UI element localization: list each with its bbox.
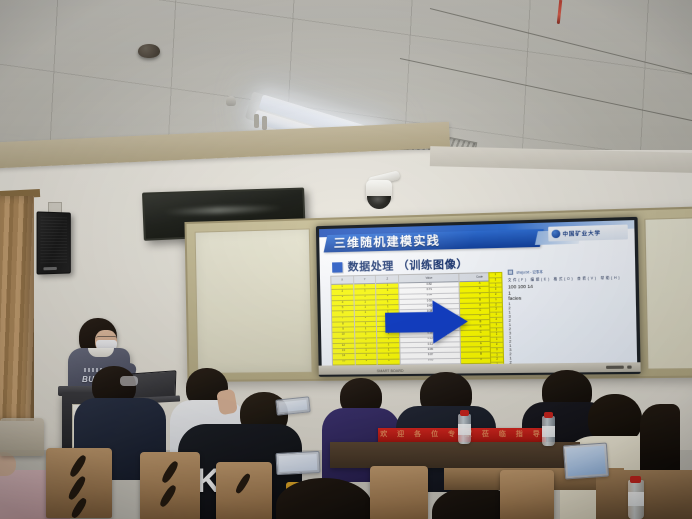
laptop-student-right[interactable] [563, 443, 609, 480]
wall-speaker [37, 211, 71, 274]
wooden-chair-back[interactable] [216, 462, 272, 519]
university-logo-text: 中国矿业大学 [562, 229, 601, 237]
slide-bullet-heading: 数据处理 （训练图像） [332, 256, 468, 275]
whiteboard-left-wing [195, 228, 313, 373]
classroom-photo: Hikvision 三维随机建模实践 中国矿业大学 数据处理 （训练图像） [0, 0, 692, 519]
smoke-detector [138, 44, 160, 58]
laptop-screen [279, 454, 318, 472]
sprinkler-head [226, 96, 236, 106]
smartboard-brand-label: SMART BOARD [377, 369, 404, 373]
whiteboard-right-wing [644, 217, 692, 370]
bottle-label [458, 424, 471, 435]
wooden-chair-back[interactable] [0, 418, 44, 456]
laptop-student-center[interactable] [275, 451, 320, 475]
wooden-chair-back[interactable] [370, 466, 428, 519]
bottle-label [542, 426, 555, 437]
light-hanger [262, 116, 267, 130]
bottle-cap [460, 410, 469, 416]
notepad-icon [508, 270, 514, 275]
chair-slot [160, 460, 180, 485]
editor-window-title: shuju.txt - 记事本 [516, 269, 542, 275]
blue-right-arrow [385, 300, 468, 345]
student-desk-row [330, 442, 580, 468]
slide-bullet-text: 数据处理 （训练图像） [348, 256, 469, 274]
student-desk-right [596, 470, 692, 519]
wooden-chair-back[interactable] [46, 448, 112, 518]
bullet-square-icon [332, 262, 343, 272]
bottle-label [628, 492, 644, 506]
bottle-cap [630, 476, 641, 483]
smartboard-control-strip[interactable] [606, 366, 624, 369]
panel-glare [161, 204, 285, 215]
spreadsheet-column: Y1111111111111111 [354, 276, 378, 371]
presentation-slide: 三维随机建模实践 中国矿业大学 数据处理 （训练图像） X12345678910… [319, 220, 637, 374]
student-glasses-icon [120, 376, 138, 386]
bottle-cap [544, 412, 553, 418]
interactive-smart-display[interactable]: 三维随机建模实践 中国矿业大学 数据处理 （训练图像） X12345678910… [316, 217, 641, 377]
student-cream-hair [640, 404, 680, 476]
smartboard-power-button[interactable] [627, 366, 632, 369]
chair-slot [70, 497, 88, 519]
speaker-brand-label [43, 267, 56, 270]
laptop-screen [279, 400, 308, 413]
spreadsheet-column: X12345678910111213141516 [331, 276, 355, 370]
university-seal-icon [551, 230, 560, 239]
chair-slot [158, 484, 178, 509]
highlighted-column-strip: 1213212312132123121 [488, 272, 504, 370]
light-hanger [254, 114, 259, 128]
text-editor-window: shuju.txt - 记事本 文件(F) 编辑(E) 格式(O) 查看(V) … [508, 267, 638, 374]
wooden-chair-back[interactable] [500, 470, 554, 519]
wooden-chair-back[interactable] [140, 452, 200, 519]
chair-slot [234, 472, 252, 494]
laptop-screen [566, 446, 606, 477]
board-frame: 三维随机建模实践 中国矿业大学 数据处理 （训练图像） X12345678910… [184, 206, 692, 382]
chair-slot [67, 475, 88, 501]
university-logo: 中国矿业大学 [548, 225, 628, 242]
chair-slot [68, 454, 88, 479]
window-curtain [0, 196, 34, 421]
